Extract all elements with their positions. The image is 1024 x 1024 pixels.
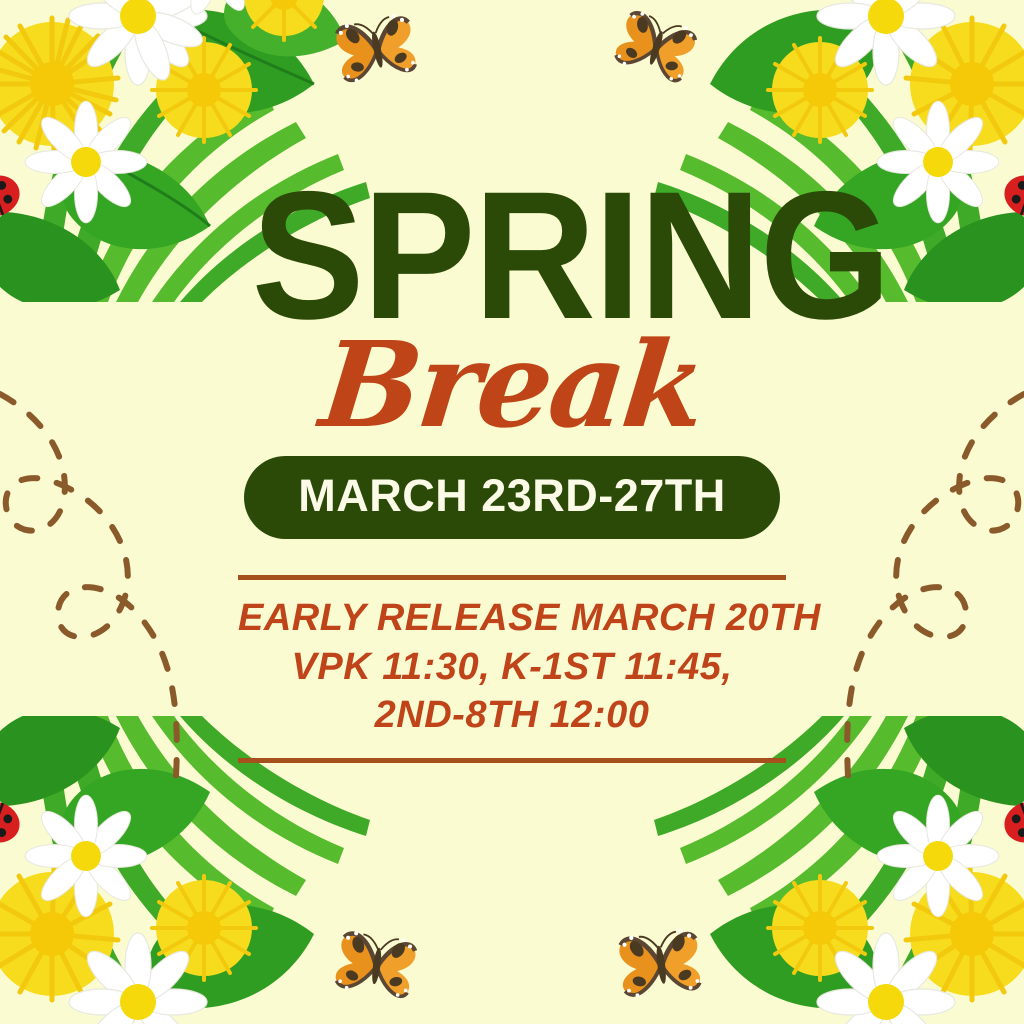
butterfly-top-right-icon [601, 0, 712, 101]
detail-line-2: VPK 11:30, K-1ST 11:45, [238, 643, 786, 692]
butterfly-bottom-right-icon [606, 909, 714, 1017]
detail-line-3: 2ND-8TH 12:00 [238, 691, 786, 740]
poster-content: SPRING Break MARCH 23RD-27TH EARLY RELEA… [0, 168, 1024, 763]
page-subtitle-script: Break [226, 326, 798, 444]
butterfly-top-left-icon [321, 0, 430, 103]
spring-break-poster: SPRING Break MARCH 23RD-27TH EARLY RELEA… [0, 0, 1024, 1024]
detail-line-1: EARLY RELEASE MARCH 20TH [238, 594, 786, 643]
early-release-details: EARLY RELEASE MARCH 20TH VPK 11:30, K-1S… [238, 575, 786, 763]
butterfly-bottom-left-icon [324, 912, 428, 1016]
date-range-badge: MARCH 23RD-27TH [244, 456, 780, 539]
headline-group: SPRING Break [232, 168, 792, 438]
